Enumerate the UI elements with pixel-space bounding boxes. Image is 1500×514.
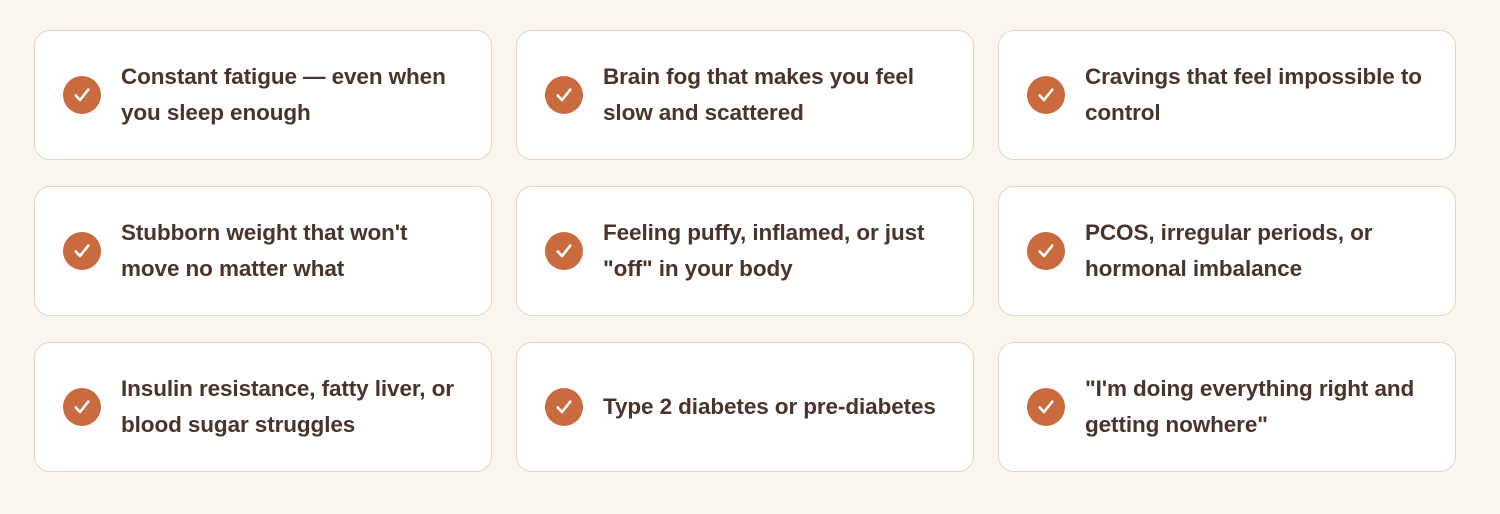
checklist-item-label: Stubborn weight that won't move no matte… [121, 215, 465, 287]
checklist-item-label: PCOS, irregular periods, or hormonal imb… [1085, 215, 1429, 287]
checklist-item-label: Insulin resistance, fatty liver, or bloo… [121, 371, 465, 443]
check-icon [1027, 76, 1065, 114]
checklist-card[interactable]: Insulin resistance, fatty liver, or bloo… [34, 342, 492, 472]
checklist-card[interactable]: PCOS, irregular periods, or hormonal imb… [998, 186, 1456, 316]
checklist-card[interactable]: Brain fog that makes you feel slow and s… [516, 30, 974, 160]
check-icon [63, 76, 101, 114]
checklist-card[interactable]: Constant fatigue — even when you sleep e… [34, 30, 492, 160]
checklist-item-label: "I'm doing everything right and getting … [1085, 371, 1429, 443]
checklist-item-label: Feeling puffy, inflamed, or just "off" i… [603, 215, 947, 287]
check-icon [63, 232, 101, 270]
checklist-card[interactable]: Cravings that feel impossible to control [998, 30, 1456, 160]
check-icon [1027, 388, 1065, 426]
checklist-item-label: Type 2 diabetes or pre-diabetes [603, 389, 947, 425]
checklist-card[interactable]: Type 2 diabetes or pre-diabetes [516, 342, 974, 472]
check-icon [545, 388, 583, 426]
checklist-item-label: Constant fatigue — even when you sleep e… [121, 59, 465, 131]
checklist-card[interactable]: Feeling puffy, inflamed, or just "off" i… [516, 186, 974, 316]
checklist-grid: Constant fatigue — even when you sleep e… [0, 0, 1500, 514]
checklist-card[interactable]: "I'm doing everything right and getting … [998, 342, 1456, 472]
check-icon [63, 388, 101, 426]
checklist-item-label: Cravings that feel impossible to control [1085, 59, 1429, 131]
check-icon [545, 76, 583, 114]
checklist-card[interactable]: Stubborn weight that won't move no matte… [34, 186, 492, 316]
check-icon [545, 232, 583, 270]
checklist-item-label: Brain fog that makes you feel slow and s… [603, 59, 947, 131]
check-icon [1027, 232, 1065, 270]
